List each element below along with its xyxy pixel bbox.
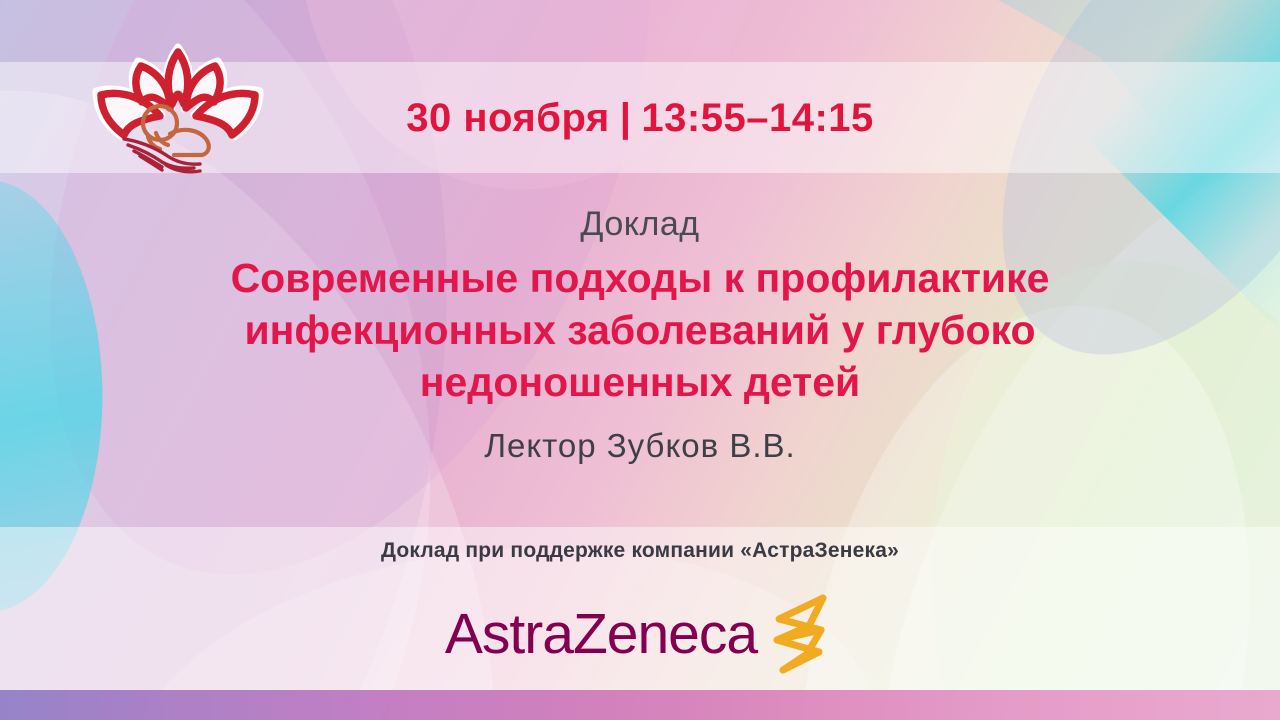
talk-kicker: Доклад [0, 203, 1280, 246]
slide-content: 30 ноября|13:55–14:15 Доклад Современные… [0, 0, 1280, 720]
talk-lecturer: Лектор Зубков В.В. [0, 427, 1280, 465]
talk-info-block: Доклад Современные подходы к профилактик… [0, 203, 1280, 465]
astrazeneca-ribbon-icon [763, 592, 835, 676]
datetime-separator: | [610, 96, 642, 141]
astrazeneca-wordmark: AstraZeneca [445, 606, 757, 663]
session-date: 30 ноября [406, 96, 609, 140]
session-datetime: 30 ноября|13:55–14:15 [300, 96, 980, 141]
talk-title-line: недоношенных детей [150, 356, 1130, 408]
presentation-slide: 30 ноября|13:55–14:15 Доклад Современные… [0, 0, 1280, 720]
lotus-baby-logo [78, 33, 278, 183]
sponsor-note: Доклад при поддержке компании «АстраЗене… [0, 539, 1280, 563]
talk-title: Современные подходы к профилактике инфек… [0, 252, 1280, 409]
talk-title-line: Современные подходы к профилактике [150, 252, 1130, 304]
talk-title-line: инфекционных заболеваний у глубоко [150, 304, 1130, 356]
astrazeneca-logo: AstraZeneca [0, 592, 1280, 676]
session-time: 13:55–14:15 [641, 96, 873, 140]
